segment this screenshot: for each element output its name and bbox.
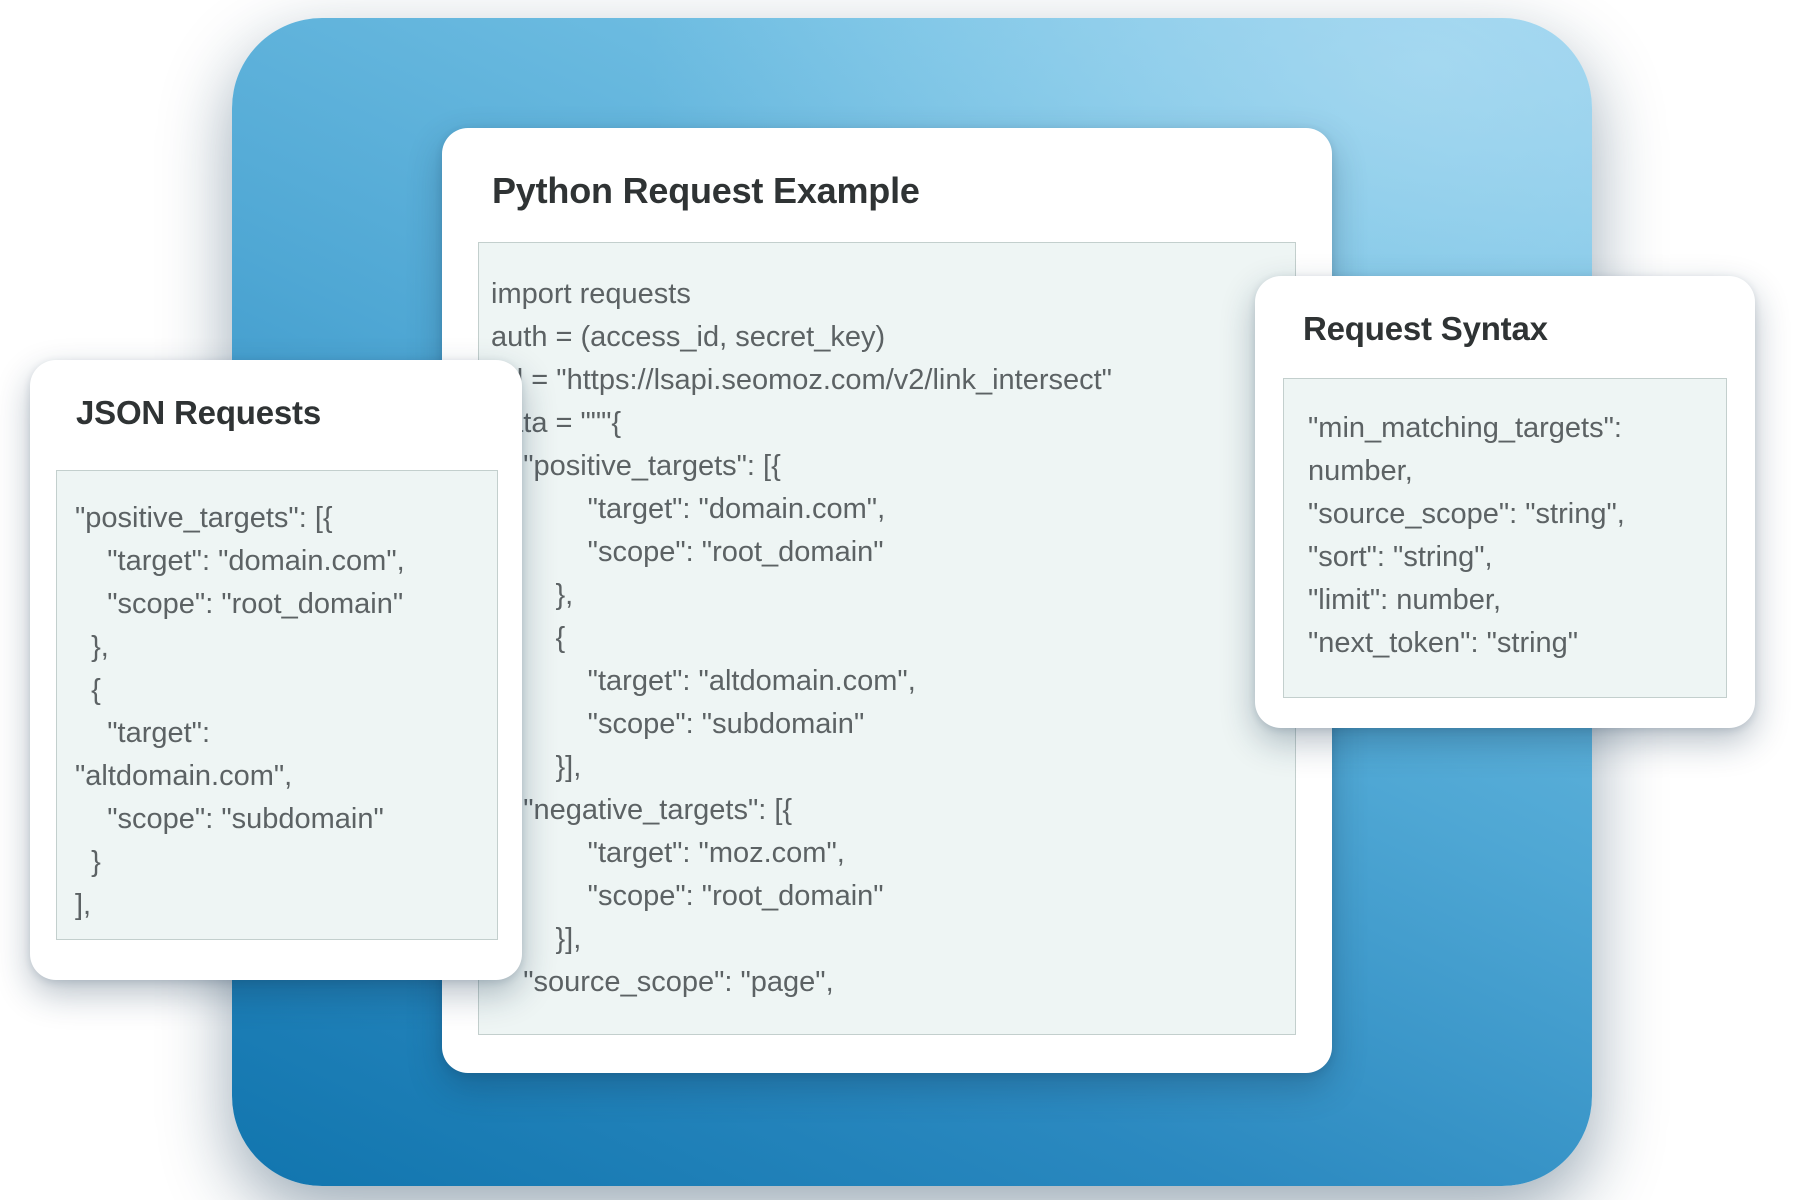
card-json-requests-title: JSON Requests bbox=[76, 394, 321, 432]
card-python-title: Python Request Example bbox=[492, 170, 920, 212]
json-requests-code-block: "positive_targets": [{ "target": "domain… bbox=[56, 470, 498, 940]
card-request-syntax-title: Request Syntax bbox=[1303, 310, 1548, 348]
python-code-block: import requests auth = (access_id, secre… bbox=[478, 242, 1296, 1035]
card-request-syntax: Request Syntax "min_matching_targets": n… bbox=[1255, 276, 1755, 728]
screenshot-stage: Python Request Example import requests a… bbox=[0, 0, 1800, 1200]
card-json-requests: JSON Requests "positive_targets": [{ "ta… bbox=[30, 360, 522, 980]
request-syntax-code-block: "min_matching_targets": number, "source_… bbox=[1283, 378, 1727, 698]
card-python-request-example: Python Request Example import requests a… bbox=[442, 128, 1332, 1073]
